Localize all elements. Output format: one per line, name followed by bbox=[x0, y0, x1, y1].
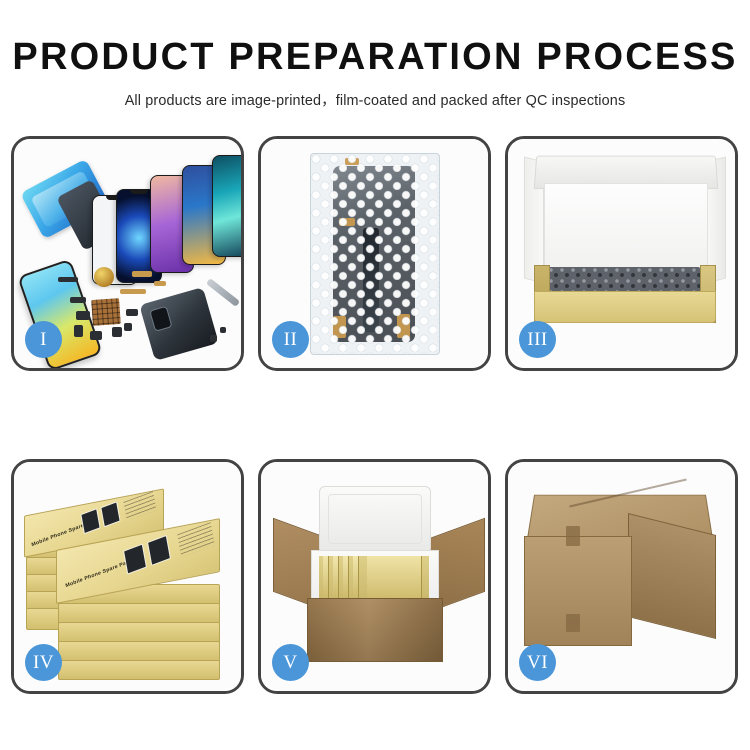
step-badge-1: I bbox=[25, 321, 62, 358]
small-part-icon bbox=[76, 311, 90, 320]
page-subtitle: All products are image-printed，film-coat… bbox=[0, 89, 750, 110]
box-edge bbox=[58, 622, 220, 643]
process-step-panel-4[interactable]: Mobile Phone Spare Parts Mobile Phone Sp… bbox=[11, 459, 244, 694]
yellow-box-front-icon bbox=[534, 291, 716, 323]
small-part-icon bbox=[126, 309, 138, 316]
process-panel-grid: I II III bbox=[11, 136, 739, 694]
packed-box-face bbox=[367, 556, 422, 598]
step-badge-3: III bbox=[519, 321, 556, 358]
process-step-panel-6[interactable]: VI bbox=[505, 459, 738, 694]
packed-box-edge bbox=[323, 556, 329, 598]
small-part-icon bbox=[74, 325, 83, 337]
box-art-swatch bbox=[80, 508, 100, 534]
packed-boxes-group bbox=[319, 556, 429, 598]
white-foam-sheet-icon bbox=[544, 183, 708, 271]
step-badge-5: V bbox=[272, 644, 309, 681]
box-label-text: Mobile Phone Spare Parts bbox=[65, 558, 134, 589]
box-edge bbox=[58, 660, 220, 680]
carton-tape-icon bbox=[566, 614, 580, 632]
process-step-panel-5[interactable]: V bbox=[258, 459, 491, 694]
foam-lid-icon bbox=[319, 486, 431, 554]
carton-body-icon bbox=[307, 598, 443, 662]
packed-box-edge bbox=[353, 556, 359, 598]
screw-icon bbox=[220, 327, 226, 333]
small-part-icon bbox=[90, 331, 102, 340]
process-step-panel-3[interactable]: III bbox=[505, 136, 738, 371]
flex-cable-icon bbox=[132, 271, 152, 277]
page-title: PRODUCT PREPARATION PROCESS bbox=[0, 38, 750, 76]
phone-screen-fan bbox=[92, 151, 241, 286]
step-badge-2: II bbox=[272, 321, 309, 358]
speaker-coil-icon bbox=[94, 267, 114, 287]
chip-grid-icon bbox=[91, 298, 121, 326]
box-edge bbox=[58, 641, 220, 662]
bubble-wrap-bag-icon bbox=[310, 153, 440, 355]
box-spec-lines bbox=[177, 522, 215, 557]
process-step-panel-1[interactable]: I bbox=[11, 136, 244, 371]
step-badge-6: VI bbox=[519, 644, 556, 681]
box-art-swatch bbox=[100, 501, 120, 527]
small-part-icon bbox=[112, 327, 122, 337]
box-art-swatch bbox=[123, 544, 147, 575]
header: PRODUCT PREPARATION PROCESS All products… bbox=[0, 0, 750, 110]
bubble-texture bbox=[311, 154, 439, 354]
flex-cable-icon bbox=[120, 289, 146, 294]
small-part-icon bbox=[124, 323, 132, 331]
box-art-swatch bbox=[147, 535, 171, 566]
notch-icon bbox=[130, 190, 148, 194]
packed-box-edge bbox=[333, 556, 339, 598]
box-spec-lines bbox=[123, 491, 156, 521]
carton-tape-icon bbox=[566, 526, 580, 546]
carton-side-face-icon bbox=[628, 513, 716, 639]
box-edge bbox=[58, 603, 220, 624]
phone-back-cover-icon bbox=[139, 287, 218, 361]
flex-cable-icon bbox=[154, 281, 166, 286]
small-part-icon bbox=[58, 277, 78, 282]
process-step-panel-2[interactable]: II bbox=[258, 136, 491, 371]
phone-screen-icon-5 bbox=[212, 155, 241, 257]
step-badge-4: IV bbox=[25, 644, 62, 681]
packed-box-edge bbox=[343, 556, 349, 598]
small-part-icon bbox=[70, 297, 86, 303]
screw-icon bbox=[210, 335, 217, 342]
